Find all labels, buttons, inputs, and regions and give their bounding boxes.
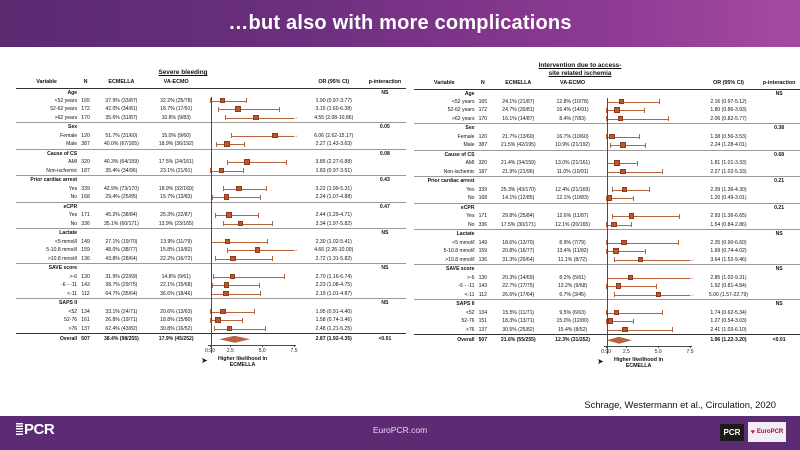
cell-forest-marker [204, 211, 304, 220]
cell-variable: No [16, 193, 77, 202]
cell-n: 336 [77, 220, 94, 229]
badge-europcr-label: EuroPCR [757, 429, 783, 435]
cell-or: 2.41 (1.03-6.10) [699, 326, 758, 335]
cell-p-interaction [758, 133, 800, 142]
cell-vaecmo [545, 265, 599, 274]
axis-tick-label: 5.0 [655, 349, 662, 355]
cell-forest-marker [204, 140, 304, 149]
confidence-interval-line [225, 118, 294, 119]
cell-p-interaction [364, 273, 406, 282]
cell-vaecmo [149, 264, 204, 273]
cell-p-interaction [364, 290, 406, 299]
axis-tick-label: 7.5 [291, 348, 298, 354]
cell-forest-marker [600, 186, 699, 195]
cell-vaecmo [149, 88, 204, 97]
cell-or: 1.69 (0.74-4.02) [699, 247, 758, 256]
cell-vaecmo: 23.1% (21/91) [149, 167, 204, 176]
cell-or: 3.34 (1.97-5.82) [304, 220, 364, 229]
cell-forest-marker [204, 229, 304, 238]
cell-or: 2.39 (1.36-4.30) [699, 186, 758, 195]
cell-or: 3.22 (1.99-5.31) [304, 185, 364, 194]
cell-n: 161 [77, 316, 94, 325]
confidence-interval-line [612, 190, 649, 191]
cell-forest-marker [204, 193, 304, 202]
point-estimate-marker [235, 106, 241, 112]
cell-n: 336 [475, 221, 492, 230]
cell-or: 4.66 (2.26-10.00) [304, 246, 364, 255]
axis-note-line1: Higher likelihood in [218, 356, 267, 363]
cell-or: 1.81 (1.01-3.33) [699, 159, 758, 168]
cell-or: 3.85 (2.27-6.88) [304, 158, 364, 167]
cell-ecmella: 24.7% (20/81) [491, 106, 545, 115]
point-estimate-marker [638, 257, 644, 263]
cell-ecmella: 24.1% (21/87) [491, 98, 545, 107]
cell-n: 320 [475, 159, 492, 168]
cell-p-interaction: NS [364, 299, 406, 308]
ci-cap-low [227, 248, 228, 253]
cell-forest-marker [600, 204, 699, 213]
cell-n: 159 [475, 247, 492, 256]
cell-vaecmo: 8.2% (5/61) [545, 274, 599, 283]
ci-cap-high [254, 309, 255, 314]
cell-forest-marker [600, 106, 699, 115]
cell-p-interaction [364, 220, 406, 229]
cell-forest-marker [600, 141, 699, 150]
cell-ecmella: 30.5% (25/82) [491, 326, 545, 335]
cell-or: 2.06 (0.82-5.77) [699, 115, 758, 124]
confidence-interval-line [606, 225, 631, 226]
cell-vaecmo [149, 203, 204, 212]
point-estimate-marker [622, 327, 628, 333]
cell-vaecmo: 32.2% (25/78) [149, 97, 204, 106]
cell-ecmella: 21.7% (13/60) [491, 133, 545, 142]
cell-forest-marker [600, 98, 699, 107]
table-row-group: AgeNS [16, 88, 406, 97]
ci-cap-low [225, 115, 226, 120]
cell-n [475, 300, 492, 309]
forest-panel-severe-bleeding: Severe bleeding Variable N ECMELLA VA-EC… [16, 47, 406, 371]
cell-variable: Non-ischemic [414, 168, 475, 177]
cell-ecmella [94, 299, 149, 308]
cell-vaecmo: 8.9% (7/79) [545, 239, 599, 248]
cell-forest-marker [600, 221, 699, 230]
cell-ecmella: 17.5% (30/171) [491, 221, 545, 230]
heart-icon: ♥ [751, 429, 755, 436]
cell-ecmella: 21.4% (34/159) [491, 159, 545, 168]
cell-or: 2.70 (1.16-6.74) [304, 273, 364, 282]
col-plot [600, 78, 699, 89]
cell-or: 3.15 (1.60-6.38) [304, 105, 364, 114]
cell-variable: Age [414, 89, 475, 98]
cell-n [77, 229, 94, 238]
cell-vaecmo [545, 230, 599, 239]
cell-ecmella: 38.7% (29/75) [94, 281, 149, 290]
cell-or [699, 89, 758, 98]
cell-forest-marker [600, 194, 699, 203]
confidence-interval-line [607, 102, 660, 103]
axis-tick-label: 0.90 [601, 349, 611, 355]
cell-n [475, 177, 492, 186]
cell-ecmella [491, 151, 545, 160]
panel-title-right-line2: site related ischemia [549, 70, 612, 77]
axis-tick-label: 2.5 [623, 349, 630, 355]
cell-n: 151 [475, 317, 492, 326]
cell-variable: SAVE score [414, 265, 475, 274]
cell-forest-marker [204, 325, 304, 334]
cell-variable: >62 years [414, 115, 475, 124]
cell-p-interaction [758, 282, 800, 291]
cell-or: 1.95 (0.91-4.40) [304, 308, 364, 317]
cell-forest-marker: → [600, 274, 699, 283]
cell-or [699, 300, 758, 309]
cell-forest-marker [204, 167, 304, 176]
cell-p-interaction: NS [758, 265, 800, 274]
cell-or: 1.58 (0.74-3.46) [304, 316, 364, 325]
cell-forest-marker [204, 255, 304, 264]
cell-n: 170 [475, 115, 492, 124]
cell-or [304, 229, 364, 238]
cell-p-interaction: NS [364, 88, 406, 97]
cell-forest-marker: → [600, 291, 699, 300]
col-variable: Variable [16, 77, 77, 88]
cell-ecmella: 29.8% (25/84) [491, 212, 545, 221]
cell-n: 120 [77, 132, 94, 141]
cell-or: 2.93 (1.36-6.65) [699, 212, 758, 221]
cell-n: 320 [77, 158, 94, 167]
cell-vaecmo [545, 204, 599, 213]
ci-cap-low [614, 292, 615, 297]
cell-n: 187 [77, 167, 94, 176]
ci-cap-high [678, 240, 679, 245]
ci-cap-low [614, 257, 615, 262]
page-title: …but also with more complications [228, 12, 571, 35]
cell-variable: 52-76 [414, 317, 475, 326]
cell-or [304, 123, 364, 132]
ci-overflow-arrow-icon: → [293, 247, 299, 253]
cell-n: 387 [77, 140, 94, 149]
cell-variable: Male [414, 141, 475, 150]
cell-n: 134 [77, 308, 94, 317]
confidence-interval-line [218, 109, 279, 110]
cell-or: 2.19 (1.01-4.87) [304, 290, 364, 299]
cell-variable: -6 - -11 [414, 282, 475, 291]
ci-cap-high [284, 274, 285, 279]
cell-vaecmo: 13.9% (23/165) [149, 220, 204, 229]
ci-cap-high [260, 195, 261, 200]
confidence-interval-line [227, 162, 286, 163]
cell-ecmella [491, 177, 545, 186]
cell-n: 339 [475, 186, 492, 195]
cell-vaecmo: 18.9% (36/192) [149, 140, 204, 149]
confidence-interval-line [214, 329, 265, 330]
cell-variable: >10.8 mmol/l [16, 255, 77, 264]
ci-cap-high [258, 213, 259, 218]
cell-or: 2.24 (1.07-4.88) [304, 193, 364, 202]
cell-variable: SAPS II [16, 299, 77, 308]
col-vaecmo: VA-ECMO [545, 78, 599, 89]
cell-forest-marker [204, 97, 304, 106]
cell-n: 171 [475, 212, 492, 221]
cell-n: 172 [475, 106, 492, 115]
cell-p-interaction [364, 158, 406, 167]
cell-p-interaction [364, 281, 406, 290]
cell-p-interaction: 0.21 [758, 177, 800, 186]
cell-forest-marker [600, 309, 699, 318]
cell-vaecmo: 15.4% (8/52) [545, 326, 599, 335]
confidence-interval-line [606, 286, 656, 287]
cell-forest-marker [204, 220, 304, 229]
badge-pcr: PCR [720, 424, 744, 441]
cell-n [475, 265, 492, 274]
cell-p-interaction [364, 105, 406, 114]
cell-or [304, 176, 364, 185]
ci-cap-high [633, 319, 634, 324]
cell-ecmella: 37.9% (33/87) [94, 97, 149, 106]
col-ecmella: ECMELLA [491, 78, 545, 89]
ci-cap-high [649, 187, 650, 192]
cell-n [77, 123, 94, 132]
ci-cap-high [272, 221, 273, 226]
cell-ecmella [491, 265, 545, 274]
badge-europcr: ♥ EuroPCR [748, 422, 786, 442]
cell-vaecmo: 12.3% (31/252) [545, 335, 599, 346]
cell-n: 168 [475, 194, 492, 203]
point-estimate-marker [227, 326, 233, 332]
cell-forest-marker [600, 133, 699, 142]
cell-forest-marker [204, 238, 304, 247]
col-vaecmo: VA-ECMO [149, 77, 204, 88]
cell-or: 1.74 (0.62-5.34) [699, 309, 758, 318]
cell-forest-marker [600, 335, 699, 346]
point-estimate-marker [628, 275, 634, 281]
cell-variable: Yes [16, 211, 77, 220]
cell-n: 387 [475, 141, 492, 150]
cell-variable: Sex [16, 123, 77, 132]
point-estimate-marker [614, 107, 620, 113]
cell-or [699, 124, 758, 133]
col-n: N [77, 77, 94, 88]
cell-ecmella [94, 229, 149, 238]
point-estimate-marker [620, 142, 626, 148]
cell-variable: 5-10.8 mmol/l [16, 246, 77, 255]
cell-variable: Non-ischemic [16, 167, 77, 176]
point-estimate-marker [215, 317, 221, 323]
cell-forest-marker [600, 317, 699, 326]
cell-forest-marker: → [204, 114, 304, 123]
ci-cap-high [637, 161, 638, 166]
panel-title-left: Severe bleeding [70, 47, 296, 77]
point-estimate-marker [230, 256, 236, 262]
cell-p-interaction: NS [758, 230, 800, 239]
cell-variable: Age [16, 88, 77, 97]
cell-p-interaction [758, 106, 800, 115]
cell-forest-marker [600, 300, 699, 309]
point-estimate-marker [224, 141, 230, 147]
cell-forest-marker: → [204, 246, 304, 255]
cell-vaecmo [149, 299, 204, 308]
cell-vaecmo [545, 177, 599, 186]
cell-ecmella: 42.9% (73/170) [94, 185, 149, 194]
cell-ecmella: 18.3% (13/71) [491, 317, 545, 326]
cell-or: 2.23 (1.08-4.75) [304, 281, 364, 290]
cell-vaecmo: 11.1% (8/72) [545, 256, 599, 265]
cell-ecmella: 21.6% (55/255) [491, 335, 545, 346]
cell-p-interaction: 0.43 [364, 176, 406, 185]
ci-cap-low [215, 256, 216, 261]
cell-n: 136 [475, 256, 492, 265]
cell-or [699, 177, 758, 186]
cell-ecmella [94, 203, 149, 212]
cell-forest-marker [600, 212, 699, 221]
ci-cap-low [213, 274, 214, 279]
cell-or [699, 151, 758, 160]
cell-variable: Cause of CS [16, 150, 77, 159]
col-p-interaction: p-interaction [758, 78, 800, 89]
cell-p-interaction: 0.21 [758, 204, 800, 213]
cell-forest-marker [600, 89, 699, 98]
cell-vaecmo: 9.5% (6/63) [545, 309, 599, 318]
confidence-interval-line [210, 312, 254, 313]
cell-ecmella: 26.8% (19/71) [94, 316, 149, 325]
cell-ecmella: 25.3% (43/170) [491, 186, 545, 195]
cell-ecmella: 20.8% (16/77) [491, 247, 545, 256]
cell-n [475, 230, 492, 239]
cell-forest-marker [204, 105, 304, 114]
cell-n: 165 [475, 98, 492, 107]
cell-n [475, 124, 492, 133]
cell-n: 165 [77, 97, 94, 106]
cell-or: 1.92 (0.81-4.84) [699, 282, 758, 291]
point-estimate-marker [616, 283, 622, 289]
cell-or: 2.24 (1.28-4.01) [699, 141, 758, 150]
ci-cap-low [223, 186, 224, 191]
ci-cap-high [644, 108, 645, 113]
col-or: OR (95% CI) [304, 77, 364, 88]
point-estimate-marker [224, 282, 230, 288]
point-estimate-marker [224, 194, 230, 200]
cell-forest-marker [204, 316, 304, 325]
cell-n: 149 [77, 238, 94, 247]
cell-ecmella: 40.3% (64/159) [94, 158, 149, 167]
cell-vaecmo [545, 151, 599, 160]
panel-title-right-line1: Intervention due to access- [539, 62, 622, 69]
cell-ecmella [94, 88, 149, 97]
ci-overflow-arrow-icon: → [293, 115, 299, 121]
cell-vaecmo: 14.8% (9/61) [149, 273, 204, 282]
cell-vaecmo: 22.2% (16/72) [149, 255, 204, 264]
cell-n: 159 [77, 246, 94, 255]
cell-ecmella: 38.4% (98/255) [94, 334, 149, 345]
cell-p-interaction: 0.05 [364, 123, 406, 132]
ci-cap-high [286, 160, 287, 165]
cell-p-interaction [364, 167, 406, 176]
cell-variable: <-11 [16, 290, 77, 299]
axis-direction-note: Higher likelihood inECMELLA [218, 356, 267, 370]
ci-cap-high [645, 249, 646, 254]
cell-forest-marker [204, 123, 304, 132]
cell-p-interaction [758, 239, 800, 248]
confidence-interval-line [210, 171, 242, 172]
confidence-interval-line [211, 242, 267, 243]
cell-ecmella: 31.3% (20/64) [491, 256, 545, 265]
cell-or: 2.35 (0.90-6.60) [699, 239, 758, 248]
cell-n: 136 [77, 255, 94, 264]
cell-variable: AMI [414, 159, 475, 168]
cell-ecmella [491, 204, 545, 213]
cell-vaecmo: 13.0% (21/161) [545, 159, 599, 168]
cell-vaecmo: 18.9% (32/169) [149, 185, 204, 194]
cell-forest-marker [600, 168, 699, 177]
cell-vaecmo [149, 176, 204, 185]
point-estimate-marker [608, 318, 614, 324]
col-p-interaction: p-interaction [364, 77, 406, 88]
cell-or: 1.90 (0.97-3.77) [304, 97, 364, 106]
cell-ecmella: 20.3% (14/69) [491, 274, 545, 283]
cell-or: 2.48 (1.21-5.25) [304, 325, 364, 334]
cell-or [699, 265, 758, 274]
ci-cap-high [656, 284, 657, 289]
confidence-interval-line [223, 224, 272, 225]
cell-p-interaction [758, 317, 800, 326]
cell-p-interaction [758, 186, 800, 195]
cell-or [699, 204, 758, 213]
ci-overflow-arrow-icon: → [689, 292, 695, 298]
cell-vaecmo: 12.6% (11/87) [545, 212, 599, 221]
cell-variable: Lactate [16, 229, 77, 238]
point-estimate-marker [244, 159, 250, 165]
cell-vaecmo: 15.8% (13/82) [149, 246, 204, 255]
cell-variable: >76 [414, 326, 475, 335]
cell-forest-marker [204, 281, 304, 290]
confidence-interval-line [614, 260, 690, 261]
table-header-row: Variable N ECMELLA VA-ECMO OR (95% CI) p… [16, 77, 406, 88]
cell-p-interaction: NS [758, 89, 800, 98]
cell-variable: -6 - -11 [16, 281, 77, 290]
cell-or: 2.30 (1.02-5.41) [304, 238, 364, 247]
ci-cap-low [214, 326, 215, 331]
cell-variable: >-6 [16, 273, 77, 282]
cell-variable: <52 [414, 309, 475, 318]
cell-or [304, 203, 364, 212]
cell-vaecmo: 25.3% (22/87) [149, 211, 204, 220]
confidence-interval-line [606, 243, 679, 244]
cell-forest-marker [600, 282, 699, 291]
cell-forest-marker [204, 290, 304, 299]
cell-forest-marker [204, 264, 304, 273]
cell-ecmella: 31.9% (22/69) [94, 273, 149, 282]
cell-forest-marker: → [600, 256, 699, 265]
cell-ecmella: 40.0% (67/165) [94, 140, 149, 149]
ci-overflow-arrow-icon: → [293, 133, 299, 139]
cell-vaecmo: 36.6% (18/46) [149, 290, 204, 299]
point-estimate-marker [656, 292, 662, 298]
ci-cap-low [612, 214, 613, 219]
cell-variable: No [16, 220, 77, 229]
cell-vaecmo: 17.9% (45/252) [149, 334, 204, 345]
cell-variable: Overall [16, 334, 77, 345]
axis-tick-label: 2.5 [227, 348, 234, 354]
cell-or [304, 88, 364, 97]
cell-variable: Female [414, 133, 475, 142]
ci-cap-low [210, 318, 211, 323]
cell-or: 2.27 (1.02-5.33) [699, 168, 758, 177]
point-estimate-marker [225, 239, 231, 245]
cell-n: 112 [475, 291, 492, 300]
cell-or: 4.55 (2.08-10.86) [304, 114, 364, 123]
reference-line [211, 97, 212, 353]
point-estimate-marker [219, 168, 225, 174]
cell-forest-marker [204, 273, 304, 282]
